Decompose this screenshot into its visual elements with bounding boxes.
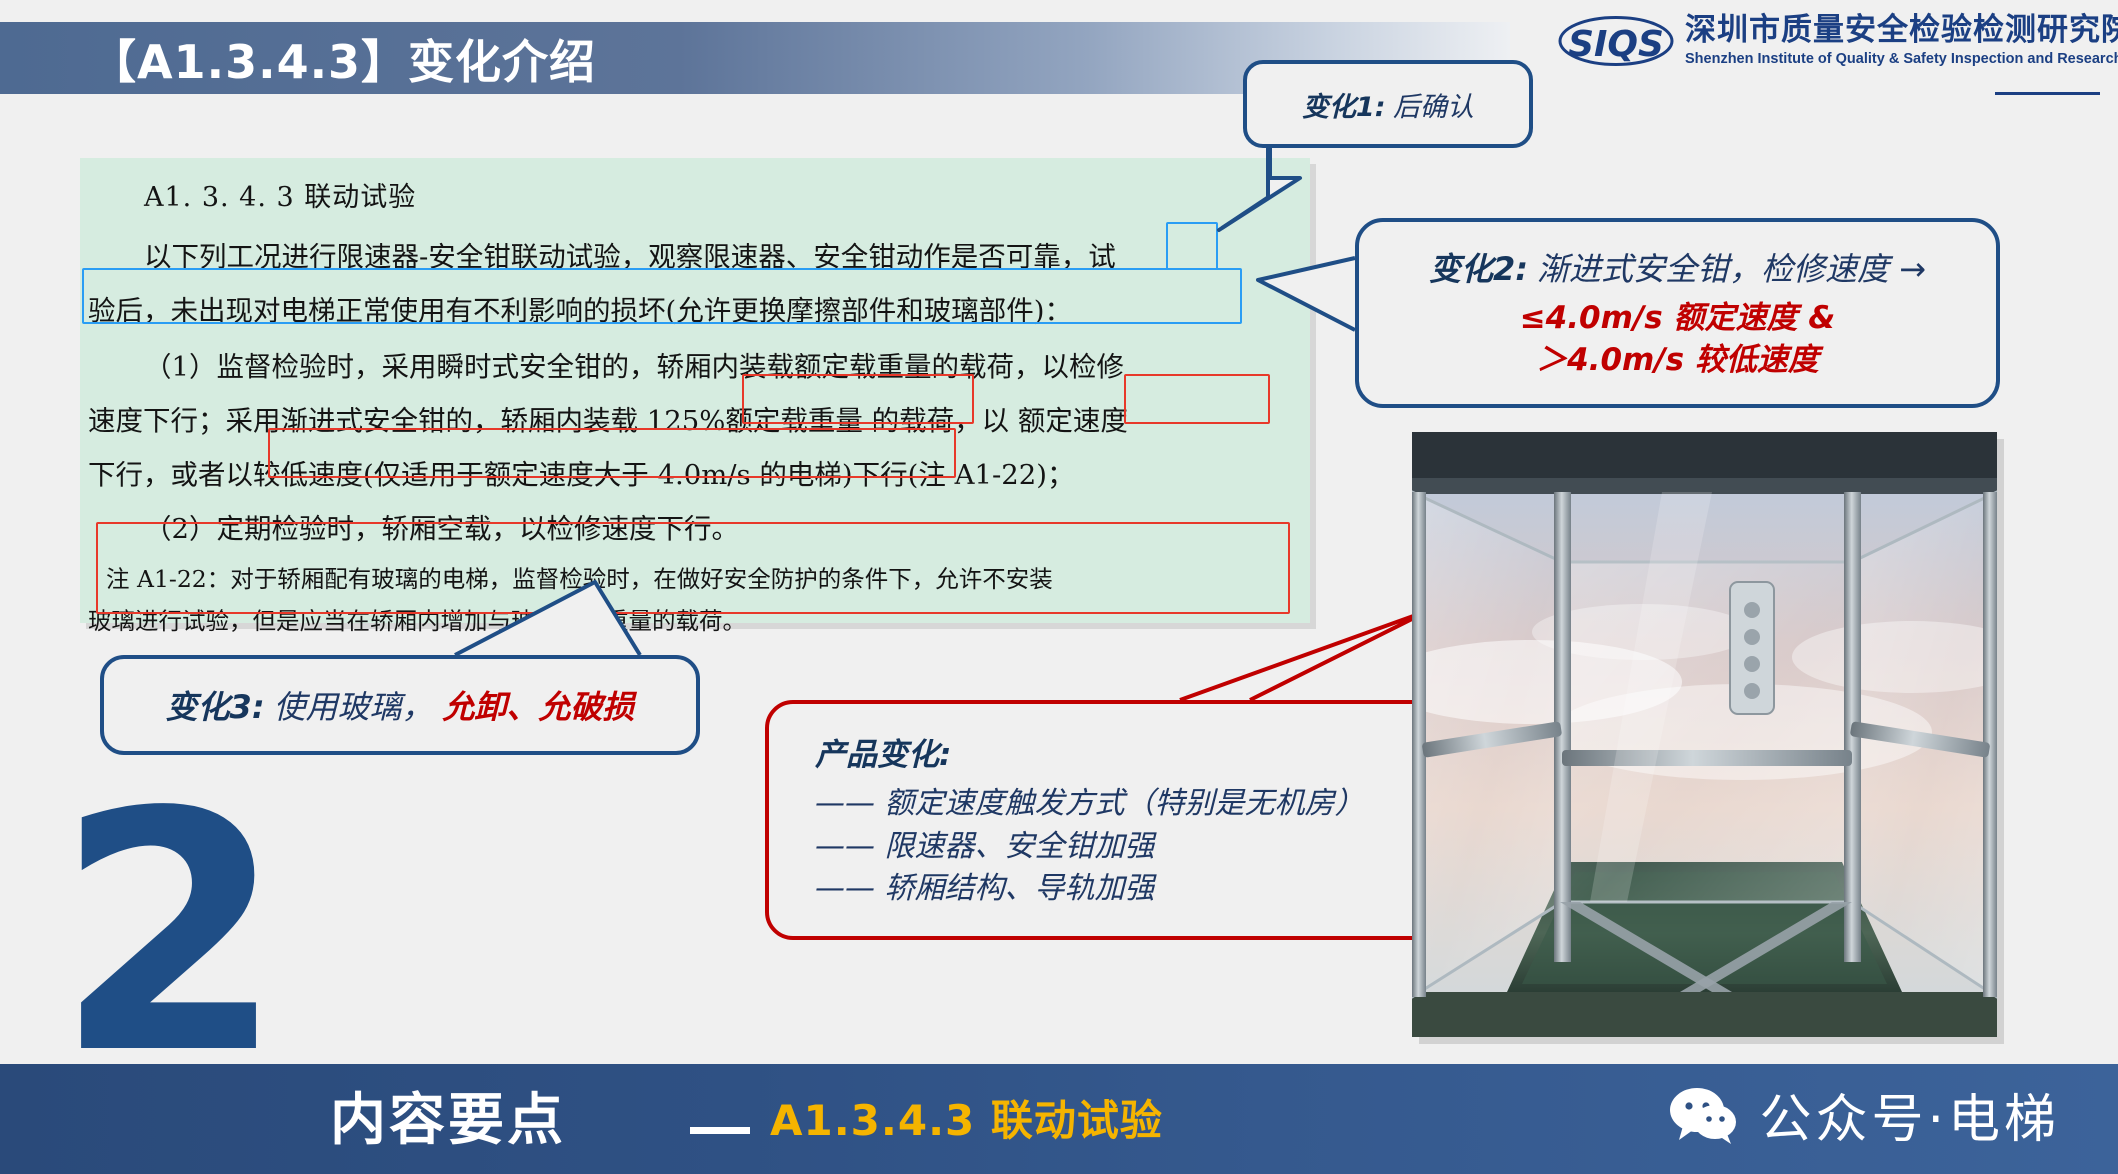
doc-line-8: 玻璃进行试验，但是应当在轿厢内增加与玻璃同等重量的载荷。 <box>88 610 746 634</box>
elevator-photo <box>1412 432 1997 1037</box>
footer-subtitle: A1.3.4.3 联动试验 <box>770 1087 1163 1148</box>
callout-change2-label: 变化2: <box>1429 250 1528 288</box>
callout-change2[interactable]: 变化2: 渐进式安全钳，检修速度 → ≤4.0m/s 额定速度 & ＞4.0m/… <box>1355 218 2000 408</box>
footer-title: 内容要点 <box>330 1075 566 1156</box>
logo-name-en: Shenzhen Institute of Quality & Safety I… <box>1685 52 2118 67</box>
wechat-label: 公众号·电梯 <box>1759 1077 2060 1152</box>
document-excerpt-panel: A1. 3. 4. 3 联动试验 以下列工况进行限速器-安全钳联动试验，观察限速… <box>80 158 1310 623</box>
section-number: 2 <box>55 806 285 1063</box>
sios-logo: SIQS 深圳市质量安全检验检测研究院 Shenzhen Institute o… <box>1557 10 2118 72</box>
doc-line-6: （2）定期检验时，轿厢空载，以检修速度下行。 <box>144 516 739 544</box>
elevator-photo-art <box>1412 432 1997 1037</box>
callout-change3-text: 使用玻璃， <box>274 688 434 726</box>
callout-change2-text: 渐进式安全钳，检修速度 → <box>1537 250 1926 288</box>
logo-underline <box>1995 92 2100 95</box>
doc-line-4: 速度下行；采用渐进式安全钳的，轿厢内装载 125%额定载重量 的载荷，以 额定速… <box>88 408 1128 436</box>
callout-change3-red: 允卸、允破损 <box>442 688 634 726</box>
document-text: A1. 3. 4. 3 联动试验 以下列工况进行限速器-安全钳联动试验，观察限速… <box>80 158 1310 623</box>
doc-line-0: A1. 3. 4. 3 联动试验 <box>144 184 416 211</box>
logo-name-cn: 深圳市质量安全检验检测研究院 <box>1685 15 2118 46</box>
callout-change2-line2: ≤4.0m/s 额定速度 & <box>1520 298 1836 340</box>
wechat-badge: 公众号·电梯 <box>1667 1077 2060 1152</box>
callout-change3-label: 变化3: <box>166 688 265 726</box>
callout-change1-label: 变化1: <box>1302 92 1386 123</box>
callout-change3[interactable]: 变化3: 使用玻璃， 允卸、允破损 <box>100 655 700 755</box>
doc-line-1: 以下列工况进行限速器-安全钳联动试验，观察限速器、安全钳动作是否可靠，试 <box>144 244 1116 272</box>
slide-root: 【A1.3.4.3】变化介绍 SIQS 深圳市质量安全检验检测研究院 Shenz… <box>0 0 2118 1174</box>
doc-line-3: （1）监督检验时，采用瞬时式安全钳的，轿厢内装载额定载重量的载荷，以检修 <box>144 354 1124 382</box>
tail-product-shape <box>1180 610 1430 700</box>
callout-change2-line3: ＞4.0m/s 较低速度 <box>1536 340 1819 382</box>
svg-text:SIQS: SIQS <box>1568 24 1664 65</box>
footer-dash <box>690 1127 750 1134</box>
sios-logo-icon: SIQS <box>1557 10 1675 72</box>
callout-product-item-2: —— 轿厢结构、导轨加强 <box>815 868 1155 911</box>
callout-product-item-0: —— 额定速度触发方式（特别是无机房） <box>815 783 1365 826</box>
callout-change1[interactable]: 变化1: 后确认 <box>1243 60 1533 148</box>
doc-line-2: 验后，未出现对电梯正常使用有不利影响的损坏(允许更换摩擦部件和玻璃部件)： <box>88 298 1072 326</box>
callout-product-changes[interactable]: 产品变化: —— 额定速度触发方式（特别是无机房） —— 限速器、安全钳加强 —… <box>765 700 1440 940</box>
doc-line-5: 下行，或者以较低速度(仅适用于额定速度大于 4.0m/s 的电梯)下行(注 A1… <box>88 462 1074 490</box>
wechat-icon <box>1667 1084 1739 1146</box>
callout-product-title: 产品变化: <box>815 729 951 774</box>
callout-product-item-1: —— 限速器、安全钳加强 <box>815 826 1155 869</box>
doc-line-7: 注 A1-22：对于轿厢配有玻璃的电梯，监督检验时，在做好安全防护的条件下，允许… <box>106 568 1053 592</box>
callout-change1-text: 后确认 <box>1393 92 1474 123</box>
page-title: 【A1.3.4.3】变化介绍 <box>90 26 596 92</box>
